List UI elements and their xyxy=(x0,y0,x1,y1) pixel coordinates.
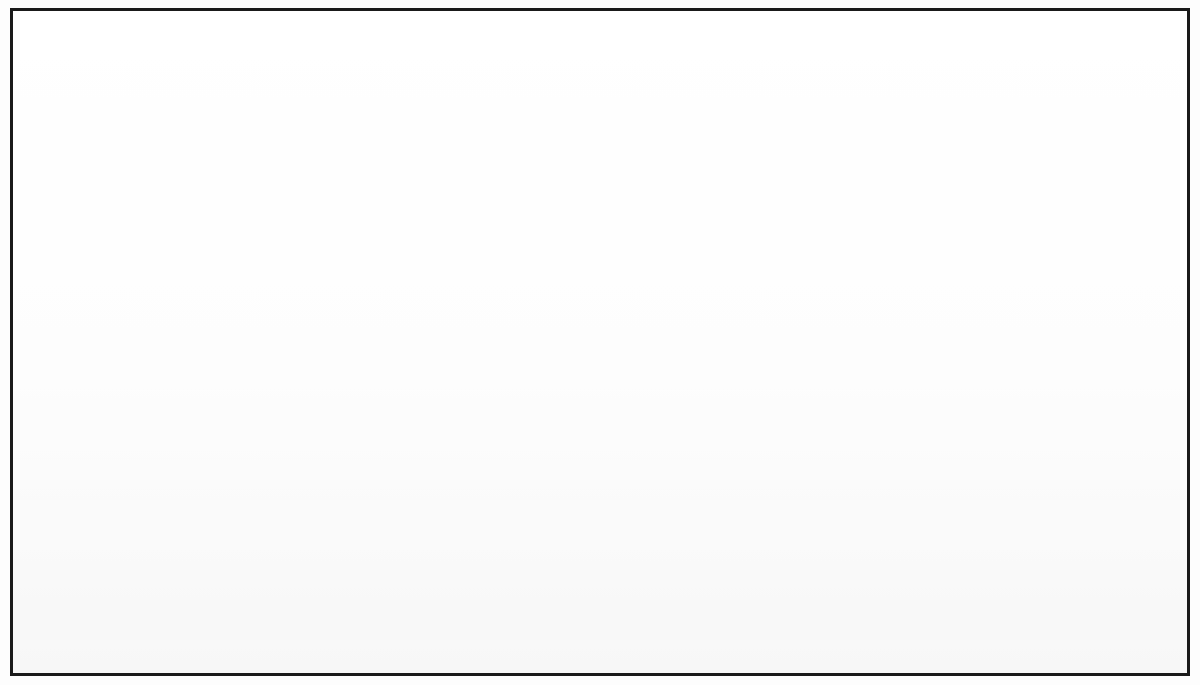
air-water-interface-line xyxy=(606,111,609,676)
page-subtitle: trajectory of the light rays xyxy=(671,41,1001,74)
water-subscript: water xyxy=(920,176,960,196)
label-thomson: Thomson xyxy=(893,241,999,274)
water-region xyxy=(606,129,1187,673)
scan-artifact-text: 1725... xyxy=(23,616,70,631)
water-symbol: n xyxy=(906,163,921,195)
air-symbol: n xyxy=(128,161,143,193)
air-equals: = xyxy=(162,161,193,193)
virtual-ray-lower xyxy=(73,417,609,523)
air-separator: : xyxy=(106,161,129,193)
scanned-page-frame: Thomson looks at Thompson : trajectory o… xyxy=(10,8,1190,676)
air-index-label: air : nair = 1 xyxy=(75,161,207,195)
water-index-value: 1.33 xyxy=(991,163,1042,195)
ground-strip-air-side xyxy=(13,633,609,673)
water-index-label: water : nwater = 1.33 xyxy=(819,163,1042,197)
label-thompson: Thompson xyxy=(178,241,299,274)
ghost-watermark-text: water xyxy=(795,243,857,274)
page-title: Thomson looks at Thompson : xyxy=(45,37,531,75)
air-medium-name: air xyxy=(75,161,106,193)
figure-thompson-virtual-image xyxy=(221,311,399,667)
water-separator: : xyxy=(883,163,906,195)
seabed-strip-water-side xyxy=(609,615,1187,673)
air-index-value: 1 xyxy=(192,161,207,193)
snell-line-2: law xyxy=(661,533,703,564)
snell-line-1: Snell-Descartes' xyxy=(661,499,864,530)
virtual-ray-group xyxy=(63,316,609,523)
snell-descartes-annotation: Snell-Descartes' law xyxy=(661,498,901,566)
air-subscript: air xyxy=(143,174,162,194)
virtual-ray-upper xyxy=(63,316,281,320)
water-equals: = xyxy=(960,163,991,195)
figure-thompson-real xyxy=(73,307,267,665)
page-bottom-rule xyxy=(13,669,1187,673)
diagram-canvas: Thomson looks at Thompson : trajectory o… xyxy=(0,0,1200,685)
virtual-ray-arrowheads xyxy=(25,305,49,535)
water-medium-name: water xyxy=(819,163,883,195)
